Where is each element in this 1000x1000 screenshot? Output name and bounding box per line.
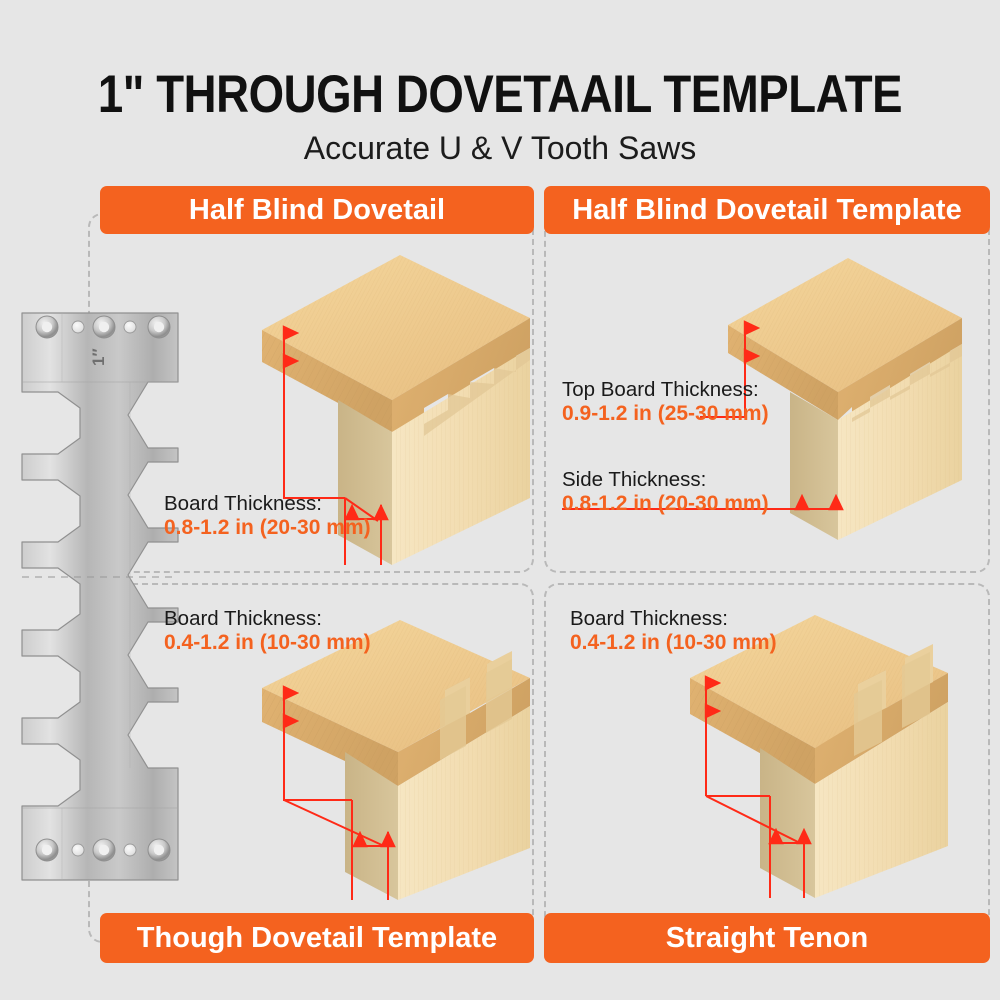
infographic-root: 1" THROUGH DOVETAAIL TEMPLATE Accurate U…	[0, 0, 1000, 1000]
annotation-side-thickness: Side Thickness: 0.8-1.2 in (20-30 mm)	[562, 468, 769, 517]
banner-though-dovetail-template: Though Dovetail Template	[100, 913, 534, 963]
annotation-value: 0.4-1.2 in (10-30 mm)	[164, 631, 371, 656]
annotation-value: 0.4-1.2 in (10-30 mm)	[570, 631, 777, 656]
annotation-board-thickness-tl: Board Thickness: 0.8-1.2 in (20-30 mm)	[164, 492, 371, 541]
banner-half-blind-dovetail-template: Half Blind Dovetail Template	[544, 186, 990, 234]
annotation-top-board-thickness: Top Board Thickness: 0.9-1.2 in (25-30 m…	[562, 378, 769, 427]
annotation-value: 0.9-1.2 in (25-30 mm)	[562, 402, 769, 427]
annotation-board-thickness-bl: Board Thickness: 0.4-1.2 in (10-30 mm)	[164, 607, 371, 656]
annotation-label: Top Board Thickness:	[562, 378, 769, 402]
annotation-value: 0.8-1.2 in (20-30 mm)	[562, 492, 769, 517]
page-subtitle: Accurate U & V Tooth Saws	[0, 130, 1000, 167]
annotation-label: Board Thickness:	[164, 492, 371, 516]
annotation-label: Side Thickness:	[562, 468, 769, 492]
banner-straight-tenon: Straight Tenon	[544, 913, 990, 963]
annotation-board-thickness-br: Board Thickness: 0.4-1.2 in (10-30 mm)	[570, 607, 777, 656]
annotation-label: Board Thickness:	[570, 607, 777, 631]
banner-half-blind-dovetail: Half Blind Dovetail	[100, 186, 534, 234]
annotation-value: 0.8-1.2 in (20-30 mm)	[164, 516, 371, 541]
page-title: 1" THROUGH DOVETAAIL TEMPLATE	[70, 64, 930, 125]
annotation-label: Board Thickness:	[164, 607, 371, 631]
